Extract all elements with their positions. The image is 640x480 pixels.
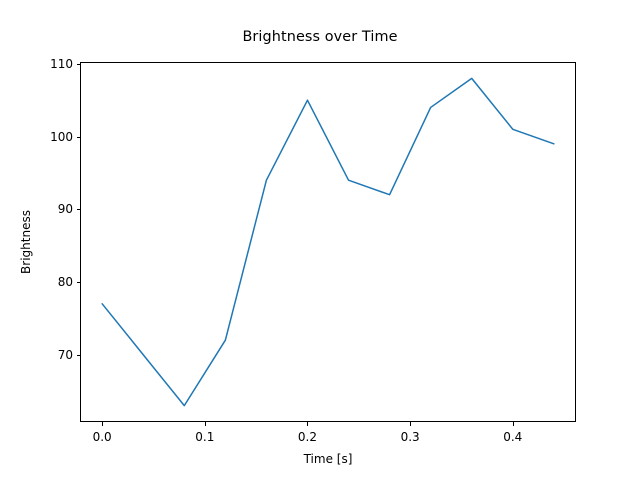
x-tick-label: 0.3 (401, 430, 420, 444)
y-tick-label: 110 (40, 57, 73, 71)
y-tick-label: 90 (40, 202, 73, 216)
y-tick-mark (77, 355, 81, 356)
x-tick-label: 0.1 (195, 430, 214, 444)
chart-title: Brightness over Time (0, 29, 640, 45)
x-tick-mark (410, 422, 411, 426)
y-tick-label: 70 (40, 348, 73, 362)
y-tick-mark (77, 137, 81, 138)
y-tick-label: 80 (40, 275, 73, 289)
x-tick-label: 0.0 (93, 430, 112, 444)
y-axis-label: Brightness (19, 210, 33, 274)
x-tick-mark (102, 422, 103, 426)
x-tick-mark (513, 422, 514, 426)
x-axis-label: Time [s] (80, 452, 576, 466)
plot-area (80, 62, 576, 422)
x-tick-mark (205, 422, 206, 426)
x-tick-label: 0.4 (503, 430, 522, 444)
x-tick-mark (307, 422, 308, 426)
y-tick-label: 100 (40, 130, 73, 144)
y-tick-mark (77, 64, 81, 65)
brightness-line (102, 78, 554, 405)
y-tick-mark (77, 282, 81, 283)
figure-canvas: Brightness over Time Brightness Time [s]… (0, 0, 640, 480)
y-tick-mark (77, 209, 81, 210)
x-tick-label: 0.2 (298, 430, 317, 444)
